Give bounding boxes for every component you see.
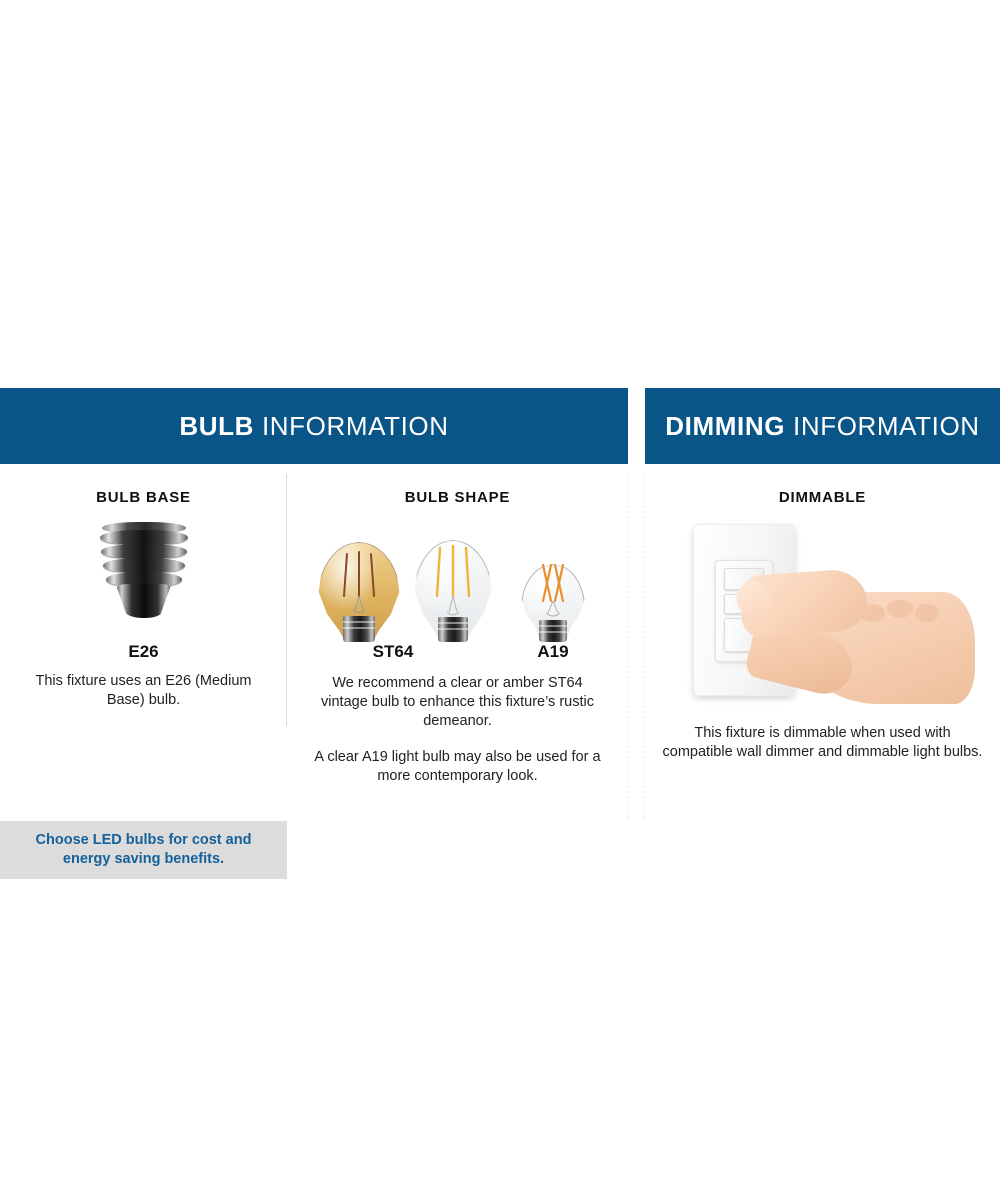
hand-icon <box>741 564 971 712</box>
a19-clear-bulb-icon <box>521 545 585 642</box>
e26-screw-base-icon <box>96 522 192 620</box>
bulb-shape-label-st64: ST64 <box>353 642 433 662</box>
st64-amber-bulb-icon <box>317 522 401 642</box>
bulb-shape-column: BULB SHAPE <box>287 464 628 786</box>
bulb-shape-title: BULB SHAPE <box>287 489 628 506</box>
dimmable-description: This fixture is dimmable when used with … <box>663 724 983 762</box>
bulb-shape-label-a19: A19 <box>513 642 593 662</box>
bulb-shape-artwork <box>287 514 628 642</box>
st64-clear-bulb-icon <box>413 520 493 642</box>
bulb-base-label: E26 <box>0 642 287 662</box>
bulb-information-header: BULB INFORMATION <box>0 388 628 464</box>
led-callout-box: Choose LED bulbs for cost and energy sav… <box>0 821 287 879</box>
bulb-information-body: BULB BASE E26 This fixture uses an E26 ( <box>0 464 628 786</box>
bulb-header-light: INFORMATION <box>262 411 449 442</box>
bulb-shape-description-1: We recommend a clear or amber ST64 vinta… <box>313 674 603 731</box>
bulb-shape-description-2: A clear A19 light bulb may also be used … <box>313 748 603 786</box>
led-callout-text: Choose LED bulbs for cost and energy sav… <box>31 831 256 869</box>
bulb-and-dimming-info-panels: BULB INFORMATION BULB BASE <box>0 388 1000 820</box>
bulb-columns: BULB BASE E26 This fixture uses an E26 ( <box>0 464 628 786</box>
bulb-header-strong: BULB <box>179 411 254 442</box>
bulb-base-title: BULB BASE <box>0 489 287 506</box>
dimming-information-header: DIMMING INFORMATION <box>645 388 1000 464</box>
dimmer-switch-artwork <box>645 516 1000 714</box>
bulb-base-description: This fixture uses an E26 (Medium Base) b… <box>31 672 256 710</box>
dimming-information-body: DIMMABLE <box>645 489 1000 762</box>
dimming-header-strong: DIMMING <box>665 411 785 442</box>
dimming-information-panel: DIMMING INFORMATION DIMMABLE <box>645 388 1000 820</box>
bulb-shape-labels-row: ST64 A19 <box>287 642 628 664</box>
panel-separator-left-dotted <box>628 476 629 820</box>
bulb-base-column: BULB BASE E26 This fixture uses an E26 ( <box>0 464 287 786</box>
bulb-base-artwork <box>0 514 287 642</box>
dimming-header-light: INFORMATION <box>793 411 980 442</box>
bulb-information-panel: BULB INFORMATION BULB BASE <box>0 388 628 820</box>
dimmable-title: DIMMABLE <box>645 489 1000 506</box>
